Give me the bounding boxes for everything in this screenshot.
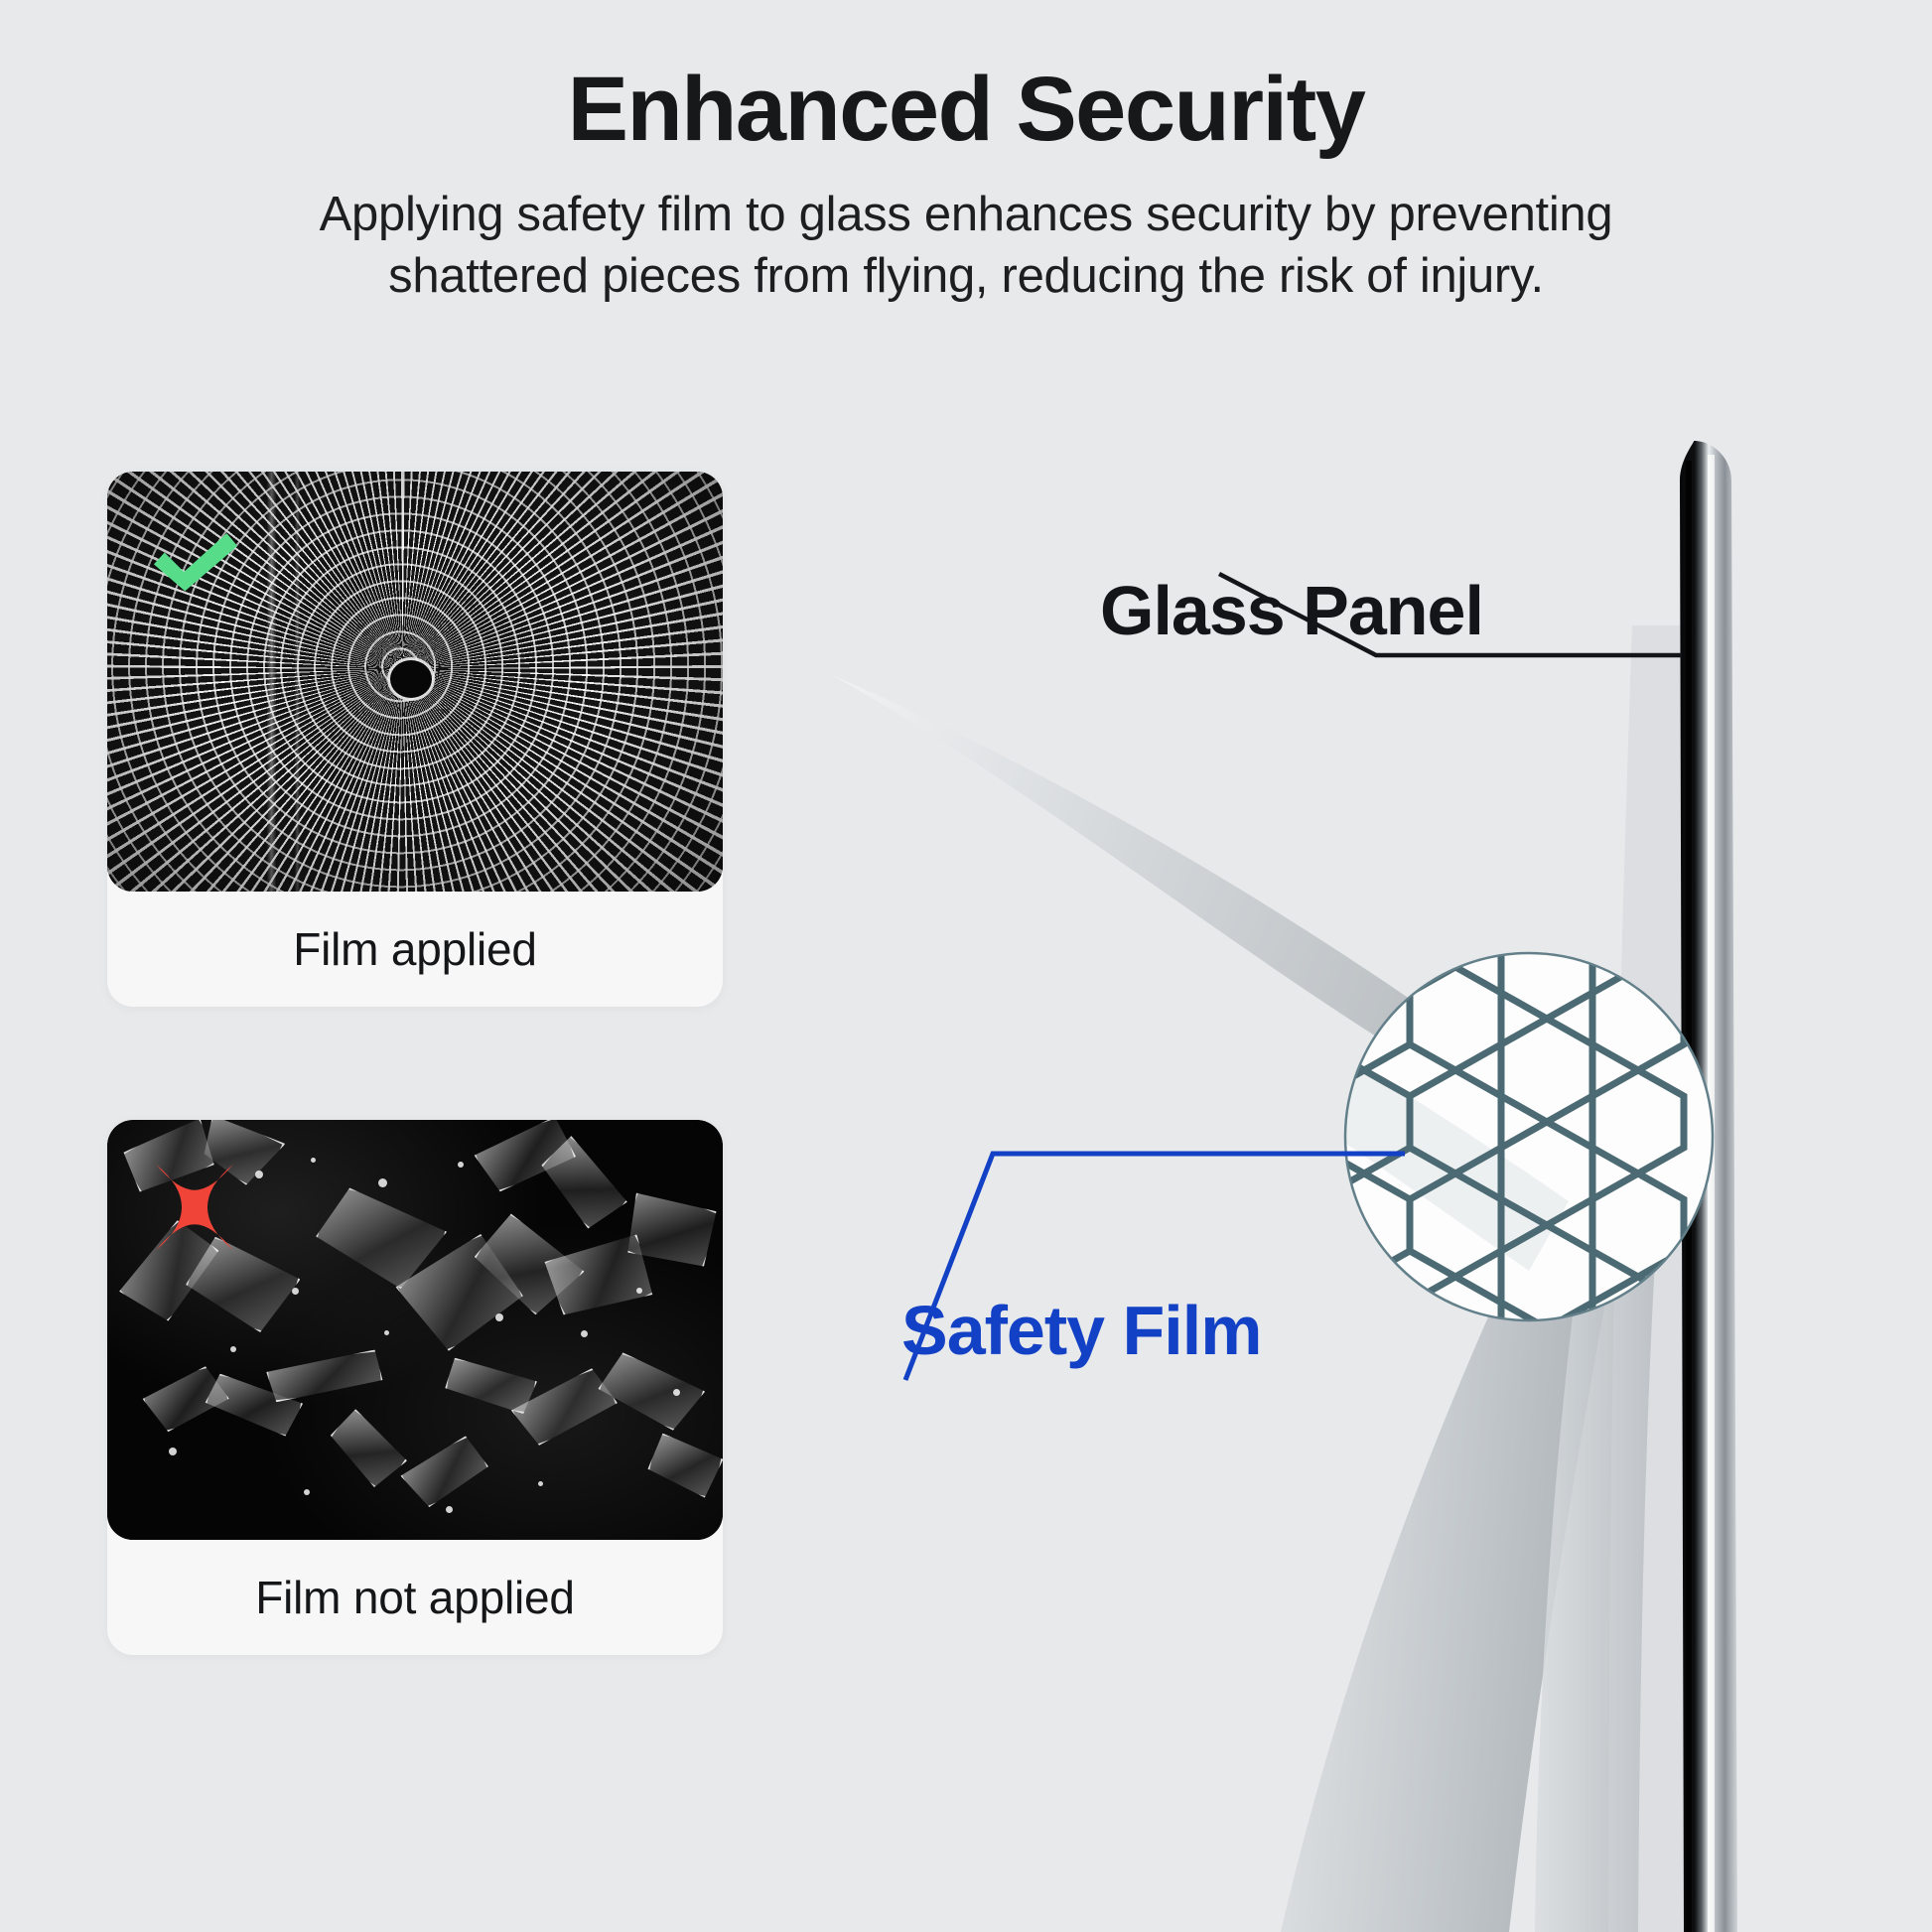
card-caption-film-applied: Film applied [107, 892, 723, 1007]
label-safety-film: Safety Film [901, 1291, 1261, 1370]
infographic-canvas: Enhanced Security Applying safety film t… [0, 0, 1932, 1932]
page-subtitle: Applying safety film to glass enhances s… [291, 184, 1641, 308]
cross-icon [141, 1154, 248, 1261]
label-glass-panel: Glass Panel [1100, 571, 1483, 650]
comparison-card-film-applied[interactable]: Film applied [107, 472, 723, 1007]
header: Enhanced Security Applying safety film t… [0, 62, 1932, 308]
flying-shards-photo [107, 1120, 723, 1540]
comparison-card-film-not-applied[interactable]: Film not applied [107, 1120, 723, 1655]
panel-specular-highlight [1708, 455, 1715, 1932]
page-title: Enhanced Security [0, 62, 1932, 158]
check-icon [141, 505, 248, 613]
card-caption-film-not-applied: Film not applied [107, 1540, 723, 1655]
shattered-glass-held-photo [107, 472, 723, 892]
comparison-cards: Film applied [107, 472, 723, 1768]
